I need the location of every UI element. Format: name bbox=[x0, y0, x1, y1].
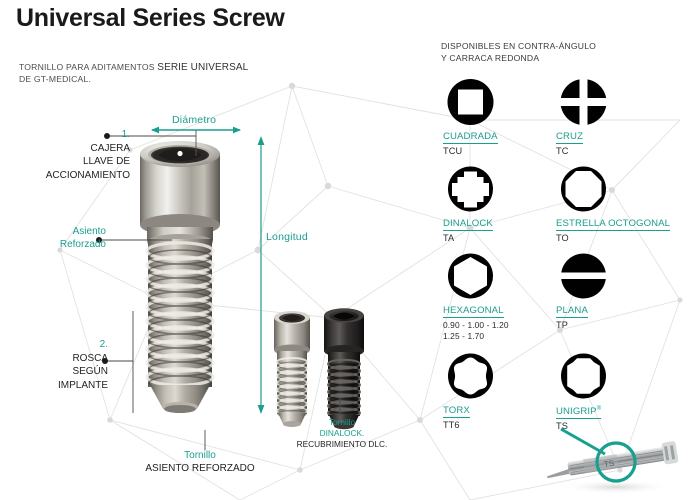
intro-series-name: SERIE UNIVERSAL bbox=[157, 62, 248, 73]
driver-code-estrella-octogonal: TO bbox=[556, 233, 670, 244]
length-label: Longitud bbox=[266, 231, 308, 243]
driver-name-cuadrada: CUADRADA bbox=[443, 131, 498, 144]
intro-line-1: TORNILLO PARA ADITAMENTOS bbox=[19, 62, 155, 72]
availability-line-1: DISPONIBLES EN CONTRA-ÁNGULO bbox=[441, 41, 596, 53]
manual-screwdriver-photo: TS bbox=[538, 425, 698, 500]
driver-option-dinalock[interactable]: DINALOCK TA bbox=[443, 165, 498, 244]
caption-dinalock-line-2: DINALOCK. bbox=[272, 428, 412, 439]
registered-mark: ® bbox=[597, 406, 602, 412]
callout-cajera-number: 1. bbox=[18, 128, 130, 142]
availability-line-2: Y CARRACA REDONDA bbox=[441, 53, 596, 65]
driver-code-cruz: TC bbox=[556, 146, 611, 157]
driver-option-estrella-octogonal[interactable]: ESTRELLA OCTOGONAL TO bbox=[556, 165, 670, 244]
driver-name-cruz: CRUZ bbox=[556, 131, 583, 144]
diameter-label: Diámetro bbox=[172, 114, 216, 126]
driver-name-unigrip: UNIGRIP® bbox=[556, 404, 601, 419]
driver-code-plana: TP bbox=[556, 320, 611, 331]
callout-rosca: 2. ROSCA SEGÚN IMPLANTE bbox=[16, 338, 108, 392]
callout-cajera-line-3: ACCIONAMIENTO bbox=[18, 169, 130, 183]
driver-code-dinalock: TA bbox=[443, 233, 498, 244]
callout-cajera-line-2: LLAVE DE bbox=[18, 155, 130, 169]
torx-socket-icon bbox=[443, 352, 498, 400]
tool-engraving-label: TS bbox=[603, 458, 615, 469]
driver-code-torx: TT6 bbox=[443, 420, 498, 431]
driver-sizes-hexagonal: 0.90 - 1.00 - 1.20 1.25 - 1.70 bbox=[443, 320, 509, 341]
callout-asiento-line-1: Asiento bbox=[18, 226, 106, 239]
square-socket-icon bbox=[443, 78, 498, 126]
unigrip-socket-icon bbox=[556, 352, 611, 400]
driver-option-hexagonal[interactable]: HEXAGONAL 0.90 - 1.00 - 1.20 1.25 - 1.70 bbox=[443, 252, 509, 341]
driver-option-cuadrada[interactable]: CUADRADA TCU bbox=[443, 78, 498, 157]
driver-option-plana[interactable]: PLANA TP bbox=[556, 252, 611, 331]
cross-socket-icon bbox=[556, 78, 611, 126]
driver-name-hexagonal: HEXAGONAL bbox=[443, 305, 504, 318]
tool-highlight-leader bbox=[561, 429, 605, 454]
callout-asiento-line-2: Reforzado bbox=[18, 239, 106, 252]
callout-asiento-reforzado: Asiento Reforzado bbox=[18, 226, 106, 251]
driver-name-torx: TORX bbox=[443, 405, 470, 418]
caption-tornillo-asiento-reforzado: Tornillo ASIENTO REFORZADO bbox=[110, 449, 290, 475]
driver-option-unigrip[interactable]: UNIGRIP® TS bbox=[556, 352, 611, 432]
caption-dinalock-line-3: RECUBRIMIENTO DLC. bbox=[272, 439, 412, 450]
driver-code-cuadrada: TCU bbox=[443, 146, 498, 157]
caption-asiento-line-2: ASIENTO REFORZADO bbox=[110, 462, 290, 475]
driver-name-estrella-octogonal: ESTRELLA OCTOGONAL bbox=[556, 218, 670, 231]
driver-option-torx[interactable]: TORX TT6 bbox=[443, 352, 498, 431]
octagon-socket-icon bbox=[556, 165, 611, 213]
availability-note: DISPONIBLES EN CONTRA-ÁNGULO Y CARRACA R… bbox=[441, 41, 596, 64]
dinalock-socket-icon bbox=[443, 165, 498, 213]
caption-asiento-line-1: Tornillo bbox=[110, 449, 290, 462]
infographic-canvas: Universal Series Screw TORNILLO PARA ADI… bbox=[0, 0, 700, 500]
caption-dinalock-line-1: Tornillo bbox=[272, 417, 412, 428]
callout-rosca-line-2: SEGÚN bbox=[16, 365, 108, 379]
callout-rosca-line-1: ROSCA bbox=[16, 352, 108, 366]
hexagon-socket-icon bbox=[443, 252, 498, 300]
callout-cajera-line-1: CAJERA bbox=[18, 142, 130, 156]
callout-rosca-line-3: IMPLANTE bbox=[16, 379, 108, 393]
driver-name-plana: PLANA bbox=[556, 305, 588, 318]
driver-option-cruz[interactable]: CRUZ TC bbox=[556, 78, 611, 157]
intro-line-2: DE GT-MEDICAL. bbox=[19, 74, 91, 84]
intro-caption: TORNILLO PARA ADITAMENTOS SERIE UNIVERSA… bbox=[19, 62, 248, 85]
callout-rosca-number: 2. bbox=[16, 338, 108, 352]
slot-socket-icon bbox=[556, 252, 611, 300]
driver-name-dinalock: DINALOCK bbox=[443, 218, 493, 231]
page-title: Universal Series Screw bbox=[16, 4, 285, 33]
caption-tornillo-dinalock: Tornillo DINALOCK. RECUBRIMIENTO DLC. bbox=[272, 417, 412, 450]
callout-cajera: 1. CAJERA LLAVE DE ACCIONAMIENTO bbox=[18, 128, 130, 182]
